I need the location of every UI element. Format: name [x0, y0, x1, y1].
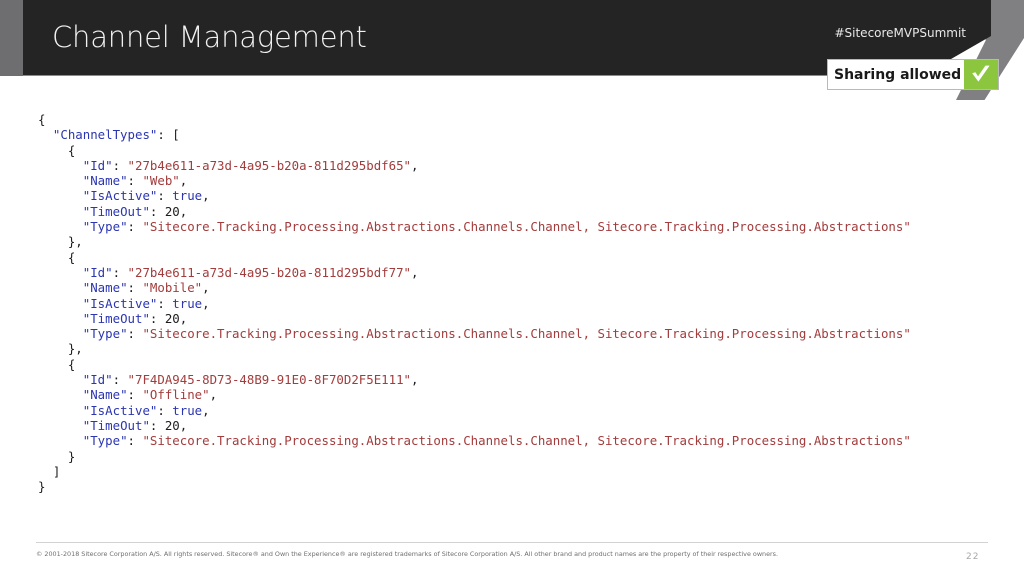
- check-mark-icon: [969, 64, 993, 86]
- json-value-name-0: "Web": [142, 173, 179, 188]
- json-value-type-2: "Sitecore.Tracking.Processing.Abstractio…: [142, 433, 910, 448]
- json-object-close-0: },: [68, 234, 83, 249]
- event-hashtag: #SitecoreMVPSummit: [834, 26, 966, 40]
- json-key-isactive-2: "IsActive": [83, 403, 158, 418]
- json-key-isactive-1: "IsActive": [83, 296, 158, 311]
- json-value-timeout-2: 20: [165, 418, 180, 433]
- json-key-timeout-1: "TimeOut": [83, 311, 150, 326]
- json-key-timeout-2: "TimeOut": [83, 418, 150, 433]
- json-object-open-2: {: [68, 357, 75, 372]
- json-key-type-2: "Type": [83, 433, 128, 448]
- json-key-type-0: "Type": [83, 219, 128, 234]
- page-number: 22: [966, 552, 979, 562]
- json-key-id-2: "Id": [83, 372, 113, 387]
- sharing-badge-label: Sharing allowed: [828, 60, 964, 89]
- json-value-id-2: "7F4DA945-8D73-48B9-91E0-8F70D2F5E111": [128, 372, 411, 387]
- json-code-block: { "ChannelTypes": [ { "Id": "27b4e611-a7…: [38, 112, 998, 494]
- json-value-isactive-1: true: [172, 296, 202, 311]
- json-code-content: { "ChannelTypes": [ { "Id": "27b4e611-a7…: [38, 112, 998, 494]
- json-object-open-1: {: [68, 250, 75, 265]
- json-object-open-0: {: [68, 143, 75, 158]
- json-value-timeout-1: 20: [165, 311, 180, 326]
- json-value-name-1: "Mobile": [142, 280, 202, 295]
- json-value-id-0: "27b4e611-a73d-4a95-b20a-811d295bdf65": [128, 158, 411, 173]
- json-key-name-1: "Name": [83, 280, 128, 295]
- json-value-type-0: "Sitecore.Tracking.Processing.Abstractio…: [142, 219, 910, 234]
- json-root-open: {: [38, 112, 45, 127]
- json-value-timeout-0: 20: [165, 204, 180, 219]
- json-array-close: ]: [53, 464, 60, 479]
- header-left-band-decoration: [0, 0, 23, 76]
- json-root-close: }: [38, 479, 45, 494]
- json-key-name-2: "Name": [83, 387, 128, 402]
- sharing-badge-check-container: [964, 60, 998, 89]
- json-key-id-0: "Id": [83, 158, 113, 173]
- sharing-status-badge: Sharing allowed: [827, 59, 999, 90]
- json-key-channeltypes: "ChannelTypes": [53, 127, 157, 142]
- json-value-isactive-0: true: [172, 188, 202, 203]
- json-key-timeout-0: "TimeOut": [83, 204, 150, 219]
- json-array-open: [: [172, 127, 179, 142]
- json-object-close-1: },: [68, 341, 83, 356]
- page-title: Channel Management: [52, 20, 367, 54]
- footer-copyright: © 2001-2018 Sitecore Corporation A/S. Al…: [36, 550, 778, 558]
- json-value-id-1: "27b4e611-a73d-4a95-b20a-811d295bdf77": [128, 265, 411, 280]
- json-object-close-2: }: [68, 449, 75, 464]
- json-key-isactive-0: "IsActive": [83, 188, 158, 203]
- json-value-name-2: "Offline": [142, 387, 209, 402]
- json-key-type-1: "Type": [83, 326, 128, 341]
- json-value-isactive-2: true: [172, 403, 202, 418]
- footer-divider: [36, 542, 988, 543]
- json-key-id-1: "Id": [83, 265, 113, 280]
- json-key-name-0: "Name": [83, 173, 128, 188]
- json-value-type-1: "Sitecore.Tracking.Processing.Abstractio…: [142, 326, 910, 341]
